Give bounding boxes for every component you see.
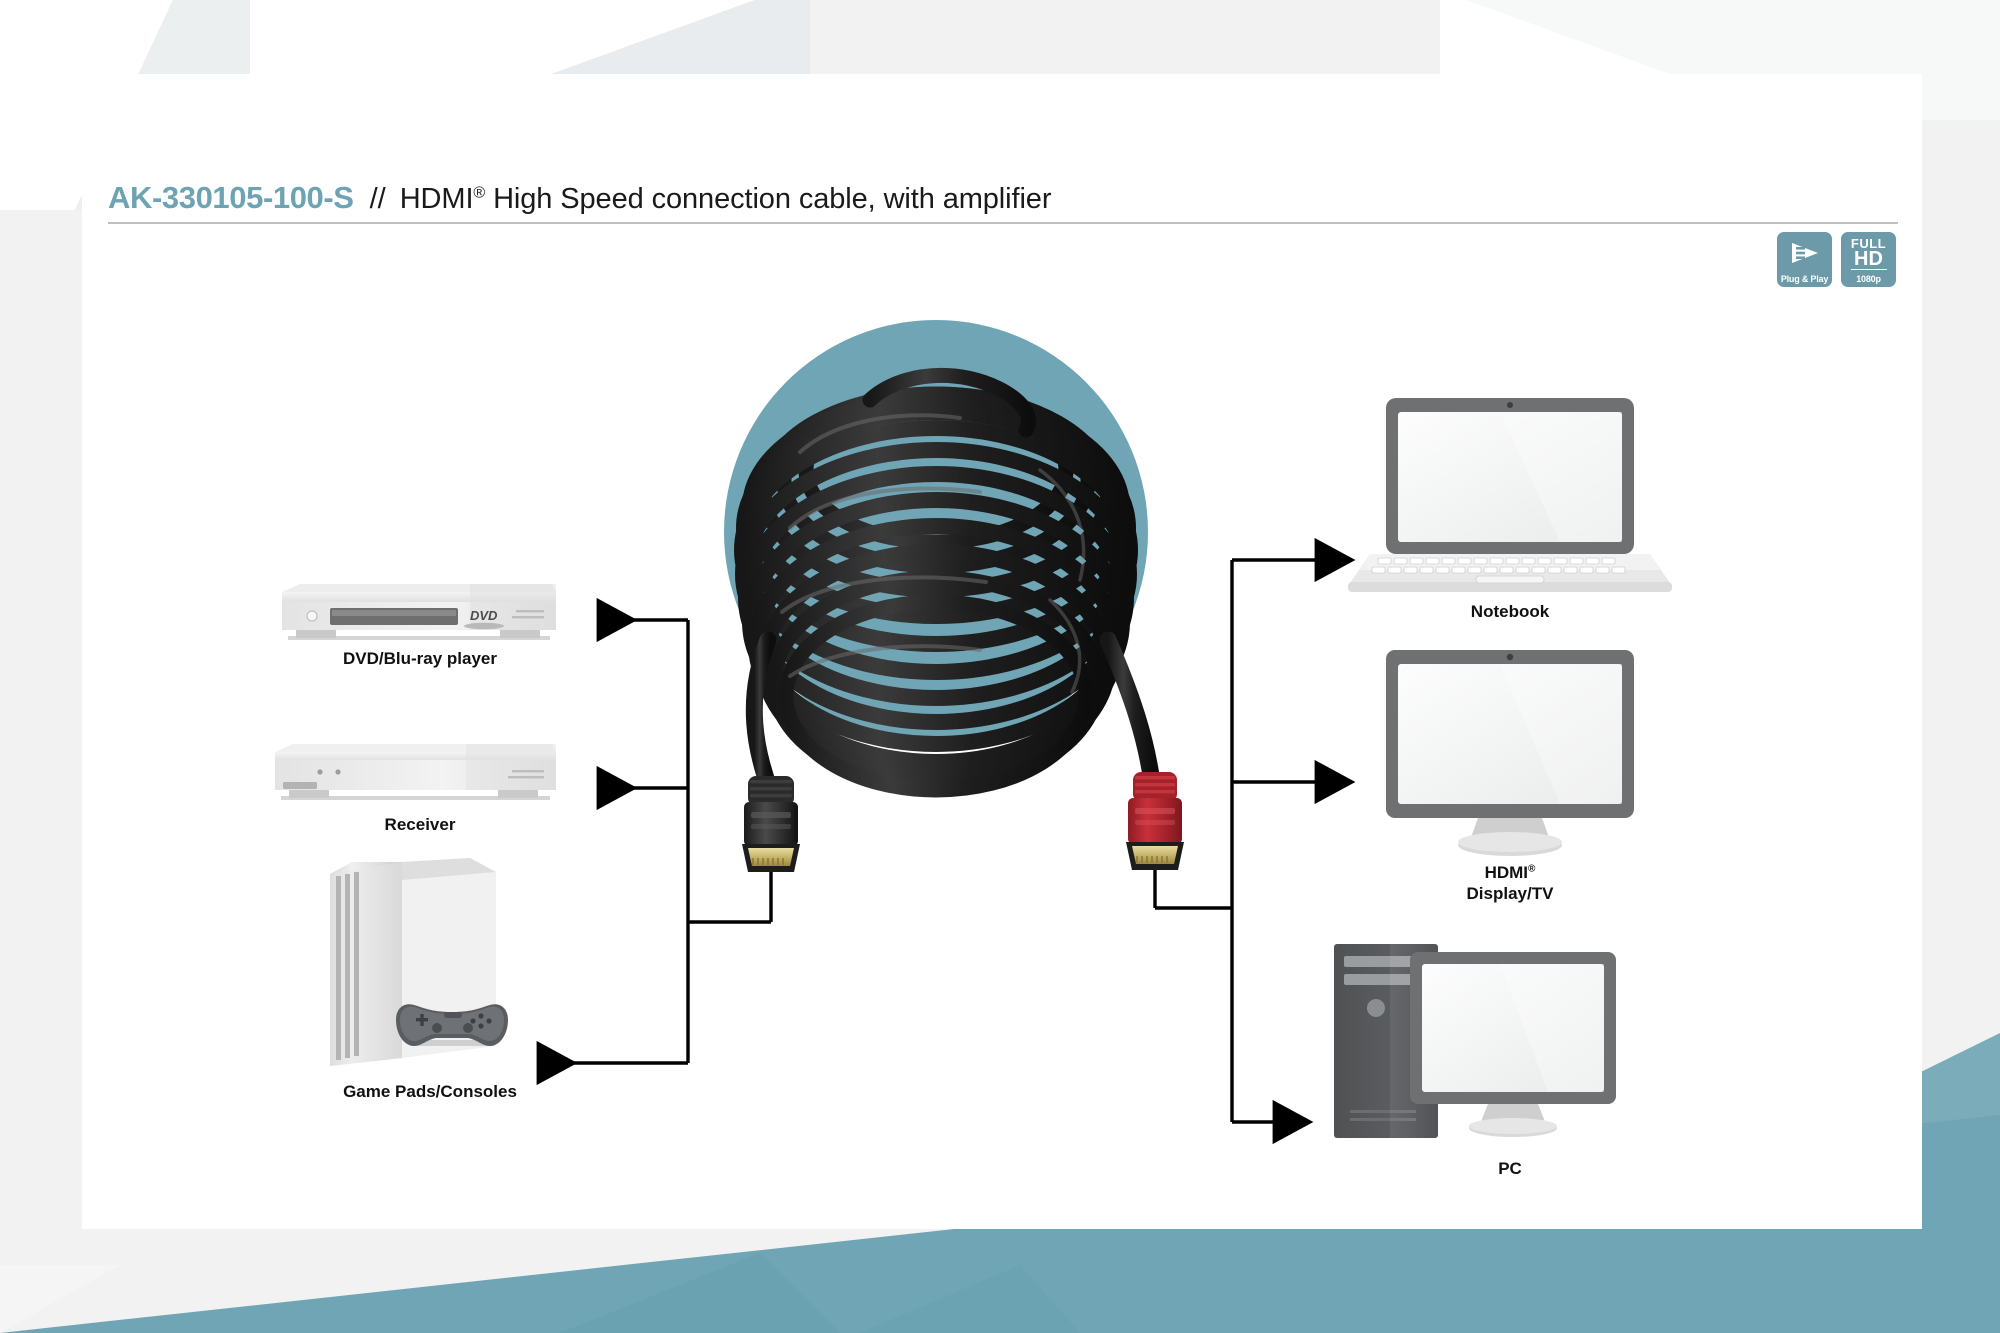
badge-full-hd-caption: 1080p [1841, 274, 1896, 284]
header-rule [108, 222, 1898, 224]
label-game-console: Game Pads/Consoles [280, 1081, 580, 1102]
badge-plug-and-play-caption: Plug & Play [1777, 274, 1832, 284]
product-sku: AK-330105-100-S [108, 180, 354, 216]
badge-divider [1851, 269, 1887, 270]
badge-full-hd-line2: HD [1854, 250, 1883, 268]
product-description: HDMI® High Speed connection cable, with … [400, 183, 1052, 216]
description-rest: High Speed connection cable, with amplif… [485, 183, 1051, 215]
product-photo-backdrop [724, 320, 1148, 744]
page-header: AK-330105-100-S // HDMI® High Speed conn… [108, 180, 1898, 216]
description-hdmi: HDMI [400, 183, 474, 215]
label-hdmi-display: HDMI® Display/TV [1380, 858, 1640, 904]
badge-plug-and-play: Plug & Play [1777, 232, 1832, 287]
label-receiver: Receiver [285, 814, 555, 835]
label-hdmi-display-line2: Display/TV [1467, 884, 1554, 903]
label-dvd-player: DVD/Blu-ray player [285, 648, 555, 669]
title-row: AK-330105-100-S // HDMI® High Speed conn… [108, 180, 1898, 216]
label-pc: PC [1390, 1158, 1630, 1179]
registered-mark: ® [473, 184, 485, 201]
feature-badges: Plug & Play FULL HD 1080p [1777, 232, 1896, 287]
title-separator: // [370, 183, 386, 216]
badge-full-hd: FULL HD 1080p [1841, 232, 1896, 287]
play-arrow-icon [1788, 240, 1822, 271]
label-notebook: Notebook [1380, 601, 1640, 622]
label-hdmi-display-line1: HDMI® [1485, 863, 1536, 882]
